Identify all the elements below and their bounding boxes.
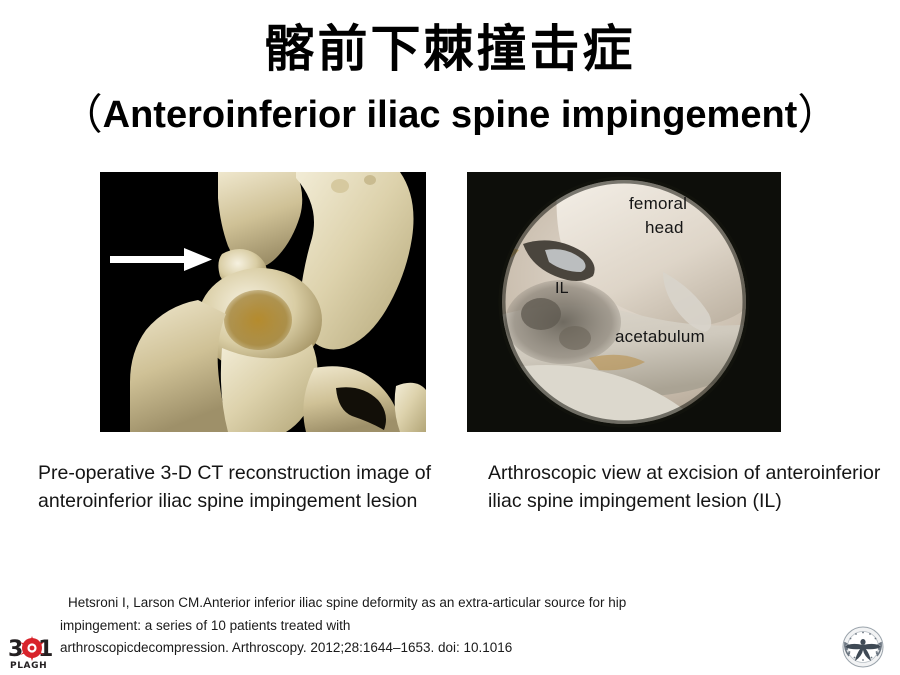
- citation-line-1: Hetsroni I, Larson CM.Anterior inferior …: [60, 592, 850, 615]
- label-femoral: femoral: [629, 194, 687, 214]
- caption-ct-image: Pre-operative 3-D CT reconstruction imag…: [38, 460, 488, 515]
- citation-line-3: arthroscopicdecompression. Arthroscopy. …: [60, 637, 850, 660]
- caption-arthroscopic-image: Arthroscopic view at excision of anteroi…: [488, 460, 888, 515]
- svg-text:PLAGH: PLAGH: [10, 661, 47, 670]
- plagh-301-logo: 3 1 PLAGH: [8, 634, 60, 670]
- title-english-text: Anteroinferior iliac spine impingement: [103, 94, 798, 136]
- label-il: IL: [555, 280, 569, 298]
- arthroscopic-graphic: [467, 172, 781, 432]
- winged-wreath-emblem-graphic: [836, 624, 890, 672]
- page-title-english: （Anteroinferior iliac spine impingement）: [0, 92, 900, 138]
- label-head: head: [645, 218, 684, 238]
- ct-reconstruction-graphic: [100, 172, 426, 432]
- citation-line-2: impingement: a series of 10 patients tre…: [60, 615, 850, 638]
- ct-reconstruction-image: [100, 172, 426, 432]
- citation-reference: Hetsroni I, Larson CM.Anterior inferior …: [60, 592, 850, 660]
- title-open-paren: （: [61, 90, 103, 139]
- page-title-chinese: 髂前下棘撞击症: [0, 22, 900, 77]
- svg-text:3: 3: [8, 637, 23, 662]
- title-close-paren: ）: [797, 90, 839, 139]
- label-acetabulum: acetabulum: [615, 327, 705, 347]
- institution-emblem-logo: [836, 624, 890, 672]
- plagh-301-logo-graphic: 3 1 PLAGH: [8, 634, 60, 670]
- arthroscopic-image: femoral head IL acetabulum: [467, 172, 781, 432]
